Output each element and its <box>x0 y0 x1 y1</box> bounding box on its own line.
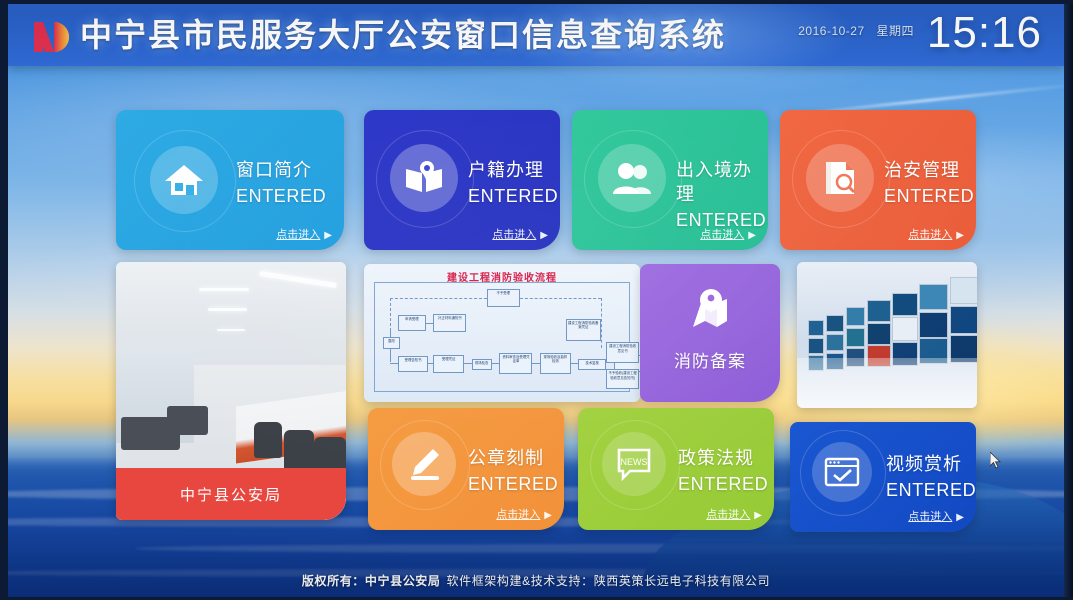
open-book-location-icon <box>390 144 458 212</box>
tile-title-cn: 出入境办理 <box>676 158 768 206</box>
tile-title-cn: 户籍办理 <box>468 158 558 182</box>
enter-link-label: 点击进入 <box>276 229 320 241</box>
flow-node: 现场验收及抽样检测 <box>540 353 570 374</box>
mouse-pointer-icon <box>990 452 1002 470</box>
tile-title-en: ENTERED <box>886 478 976 502</box>
tile-title-en: ENTERED <box>236 184 326 208</box>
tile-fire-filing[interactable]: 消防备案 <box>640 264 780 402</box>
header-weekday: 星期四 <box>876 24 914 38</box>
photo-sofa <box>167 406 208 434</box>
tile-exit-entry[interactable]: 出入境办理 ENTERED 点击进入▶ <box>572 110 768 250</box>
arrow-right-icon: ▶ <box>754 510 762 521</box>
screen-bezel-left <box>0 0 8 600</box>
screen-bezel-right <box>1064 0 1073 600</box>
flow-node: 不予受理 <box>487 289 520 306</box>
photo-ceiling-light <box>217 329 245 331</box>
page-title: 中宁县市民服务大厅公安窗口信息查询系统 <box>80 12 726 58</box>
brand-mark-icon <box>34 20 72 54</box>
tile-label-group: 视频赏析 ENTERED <box>886 452 976 502</box>
tile-title-cn: 视频赏析 <box>886 452 976 476</box>
tile-title-cn: 窗口简介 <box>236 158 326 182</box>
enter-link[interactable]: 点击进入▶ <box>908 226 964 242</box>
photo-caption: 中宁县公安局 <box>116 468 346 520</box>
header-date: 2016-10-27 <box>798 24 864 38</box>
flow-dashed-link <box>601 298 602 348</box>
tile-title-en: ENTERED <box>884 184 974 208</box>
flow-node: 受理凭证 <box>433 355 463 372</box>
flow-link <box>390 363 398 364</box>
tile-public-security[interactable]: 治安管理 ENTERED 点击进入▶ <box>780 110 976 250</box>
flow-link <box>532 363 540 364</box>
flow-node: 资料审查及受理凭证单 <box>499 353 532 374</box>
flow-link <box>390 349 391 362</box>
house-icon <box>150 146 218 214</box>
flow-node: 不予验收(建设工程验收意见告知书) <box>606 369 639 388</box>
tile-label-group: 政策法规 ENTERED <box>678 446 768 496</box>
arrow-right-icon: ▶ <box>324 230 332 241</box>
tile-title-cn: 消防备案 <box>640 350 780 374</box>
enter-link-label: 点击进入 <box>706 509 750 521</box>
video-wall-photo[interactable] <box>797 262 977 408</box>
enter-link-label: 点击进入 <box>492 229 536 241</box>
flow-node: 建设工程消防验收备案凭证 <box>566 319 602 342</box>
flow-link <box>426 323 434 324</box>
enter-link[interactable]: 点击进入▶ <box>276 226 332 242</box>
photo-ceiling-light <box>199 288 250 291</box>
enter-link[interactable]: 点击进入▶ <box>492 226 548 242</box>
pencil-icon <box>392 432 456 496</box>
enter-link[interactable]: 点击进入▶ <box>706 506 762 522</box>
service-hall-photo[interactable]: 中宁县公安局 <box>116 262 346 520</box>
flow-node: 建设工程消防验收意见书 <box>606 342 639 363</box>
document-search-icon <box>806 144 874 212</box>
tile-label-group: 出入境办理 ENTERED <box>676 158 768 232</box>
app-header: 中宁县市民服务大厅公安窗口信息查询系统 2016-10-27 星期四 15:16 <box>8 4 1064 66</box>
tile-title-en: ENTERED <box>678 472 768 496</box>
arrow-right-icon: ▶ <box>544 510 552 521</box>
tile-policy-law[interactable]: NEWS 政策法规 ENTERED 点击进入▶ <box>578 408 774 530</box>
flow-node: 申请受理 <box>398 315 426 330</box>
photo-chair <box>254 422 282 458</box>
tile-video-view[interactable]: 视频赏析 ENTERED 点击进入▶ <box>790 422 976 532</box>
tile-label-group: 窗口简介 ENTERED <box>236 158 326 208</box>
enter-link-label: 点击进入 <box>908 511 952 523</box>
kiosk-application: 中宁县市民服务大厅公安窗口信息查询系统 2016-10-27 星期四 15:16… <box>8 4 1064 597</box>
flow-node: 技术复核 <box>578 359 606 371</box>
enter-link[interactable]: 点击进入▶ <box>908 508 964 524</box>
flow-link <box>390 331 391 337</box>
video-wall-reflection <box>797 358 977 408</box>
photographed-display: 中宁县市民服务大厅公安窗口信息查询系统 2016-10-27 星期四 15:16… <box>0 0 1073 600</box>
flow-link <box>492 363 500 364</box>
flow-dashed-link <box>390 298 391 330</box>
copyright-owner: 版权所有：中宁县公安局 <box>302 574 441 588</box>
tile-label-group: 公章刻制 ENTERED <box>468 446 558 496</box>
news-bubble-icon: NEWS <box>602 432 666 496</box>
map-pin-icon <box>686 286 734 334</box>
arrow-right-icon: ▶ <box>956 512 964 523</box>
arrow-right-icon: ▶ <box>748 230 756 241</box>
enter-link-label: 点击进入 <box>908 229 952 241</box>
flow-dashed-link <box>520 298 601 299</box>
enter-link-label: 点击进入 <box>496 509 540 521</box>
browser-check-icon <box>812 442 872 502</box>
photo-chair <box>284 430 314 471</box>
flow-link <box>571 363 579 364</box>
flow-node: 补正材料通知书 <box>433 314 466 331</box>
flow-node: 现场检查 <box>472 359 492 371</box>
footer: 版权所有：中宁县公安局软件框架构建&技术支持：陕西英策长远电子科技有限公司 <box>8 572 1064 589</box>
flow-dashed-link <box>390 298 487 299</box>
tile-title-en: ENTERED <box>468 184 558 208</box>
flow-link <box>428 363 433 364</box>
tile-title-cn: 治安管理 <box>884 158 974 182</box>
tile-title-en: ENTERED <box>468 472 558 496</box>
svg-text:NEWS: NEWS <box>621 457 648 467</box>
enter-link[interactable]: 点击进入▶ <box>700 226 756 242</box>
header-datetime: 2016-10-27 星期四 <box>798 22 914 39</box>
arrow-right-icon: ▶ <box>540 230 548 241</box>
tile-label-group: 消防备案 <box>640 350 780 374</box>
header-clock: 15:16 <box>927 4 1042 62</box>
flow-node: 整改 <box>383 337 401 349</box>
flow-node: 受理告知书 <box>398 356 428 371</box>
two-people-icon <box>598 144 666 212</box>
tile-title-cn: 公章刻制 <box>468 446 558 470</box>
tile-seal-carving[interactable]: 公章刻制 ENTERED 点击进入▶ <box>368 408 564 530</box>
flow-link <box>464 363 472 364</box>
tile-title-cn: 政策法规 <box>678 446 768 470</box>
enter-link[interactable]: 点击进入▶ <box>496 506 552 522</box>
vendor-credit: 软件框架构建&技术支持：陕西英策长远电子科技有限公司 <box>447 574 771 588</box>
tile-window-intro[interactable]: 窗口简介 ENTERED 点击进入▶ <box>116 110 344 250</box>
enter-link-label: 点击进入 <box>700 229 744 241</box>
photo-ceiling-light <box>208 308 247 311</box>
tile-household[interactable]: 户籍办理 ENTERED 点击进入▶ <box>364 110 560 250</box>
flowchart-frame: 不予受理 申请受理 补正材料通知书 整改 受理告知书 受理凭证 现场检查 资料审… <box>374 282 630 392</box>
arrow-right-icon: ▶ <box>956 230 964 241</box>
tile-label-group: 治安管理 ENTERED <box>884 158 974 208</box>
tile-label-group: 户籍办理 ENTERED <box>468 158 558 208</box>
fire-acceptance-flowchart[interactable]: 建设工程消防验收流程 不予受理 申请受理 补正材料通知书 整改 受理告知书 受理… <box>364 264 640 402</box>
